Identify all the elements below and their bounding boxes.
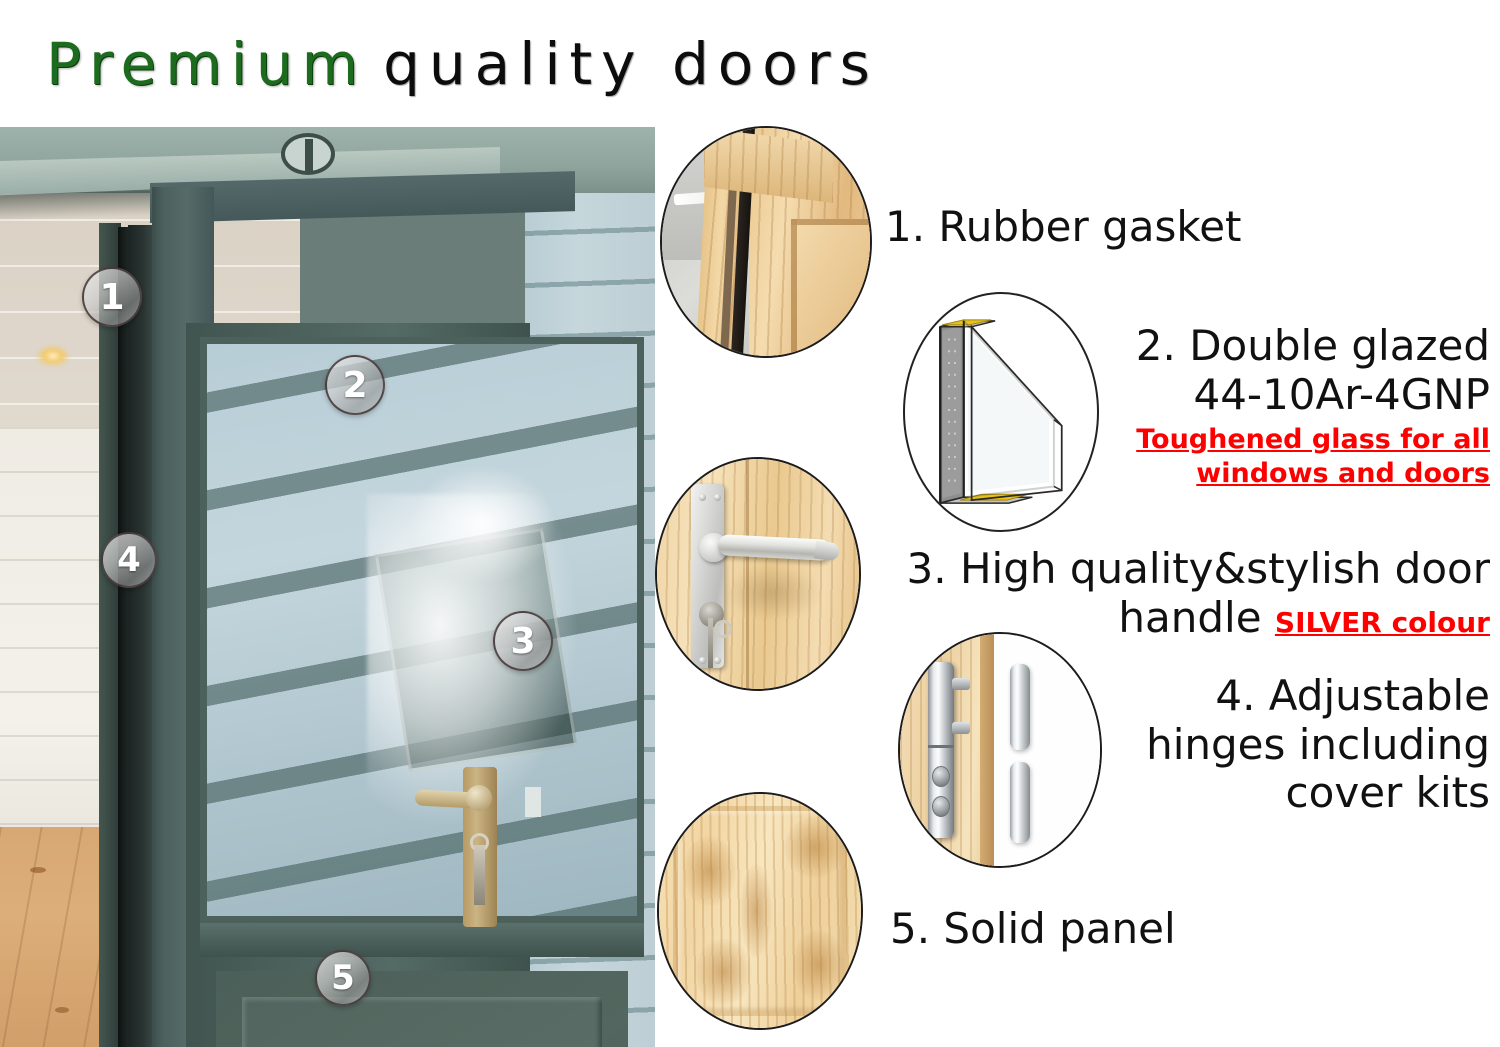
hinge-cover-cap-upper	[1010, 664, 1030, 750]
photo-badge-2-label: 2	[342, 365, 367, 406]
door-mid-rail	[200, 923, 644, 957]
feature-4-heading-line3: cover kits	[1286, 768, 1490, 817]
main-door-photo: 1 2 3 4 5	[0, 127, 655, 1047]
feature-4-heading-line1: 4. Adjustable	[1215, 671, 1490, 720]
photo-badge-5-label: 5	[331, 958, 355, 998]
feature-2-code: 44-10Ar-4GNP	[1110, 371, 1490, 420]
title-word-premium: Premium	[46, 30, 367, 98]
hinge-cover-cap-lower	[1010, 762, 1030, 843]
hinge-pin-upper	[952, 678, 970, 690]
feature-2-heading: 2. Double glazed	[1136, 321, 1490, 370]
door-solid-panel	[216, 971, 628, 1047]
photo-badge-1-label: 1	[99, 277, 124, 318]
door-glass	[200, 337, 644, 923]
door-panel-moulding	[242, 997, 602, 1047]
key-shaft	[708, 618, 713, 669]
hinge-pin-lower	[952, 722, 970, 734]
feature-image-adjustable-hinge	[898, 632, 1102, 868]
glass-reflection-sky	[407, 464, 557, 584]
hinge-adjust-screw-1	[932, 766, 950, 787]
feature-5-heading: 5. Solid panel	[890, 905, 1176, 954]
photo-badge-4[interactable]: 4	[101, 532, 157, 588]
photo-badge-4-label: 4	[117, 540, 141, 580]
feature-image-door-handle	[655, 457, 861, 691]
feature-3-note: SILVER colour	[1275, 606, 1490, 639]
feature-4-text-block: 4. Adjustable hinges including cover kit…	[1100, 672, 1490, 818]
title-word-quality-doors: quality doors	[383, 30, 879, 98]
feature-1-heading: 1. Rubber gasket	[885, 203, 1242, 252]
door-handle-rose	[466, 785, 492, 811]
keyring	[714, 620, 732, 638]
feature-3-heading-line2: handle	[1118, 593, 1261, 642]
feature-image-double-glazed-unit	[903, 292, 1099, 532]
photo-badge-3-label: 3	[510, 621, 535, 662]
feature-3-heading-line1: 3. High quality&stylish door	[907, 544, 1490, 593]
feature-image-solid-panel	[657, 792, 863, 1030]
feature-2-text-block: 2. Double glazed 44-10Ar-4GNP Toughened …	[1110, 322, 1490, 491]
page-title: Premiumquality doors	[46, 30, 879, 98]
door-leaf	[186, 323, 530, 1047]
double-glazed-diagram-svg	[905, 294, 1097, 530]
photo-badge-1[interactable]: 1	[82, 267, 142, 327]
ceiling-vent	[281, 133, 335, 175]
photo-badge-2[interactable]: 2	[325, 355, 385, 415]
ceiling-light	[36, 345, 70, 367]
panel-recess-border	[673, 806, 847, 1017]
feature-image-rubber-gasket	[660, 126, 872, 358]
photo-badge-3[interactable]: 3	[493, 611, 553, 671]
feature-3-text-block: 3. High quality&stylish door handle SILV…	[875, 545, 1490, 642]
feature-4-heading-line2: hinges including	[1146, 720, 1490, 769]
key	[474, 845, 485, 905]
photo-badge-5[interactable]: 5	[315, 950, 371, 1006]
infographic-page: Premiumquality doors	[0, 0, 1500, 1047]
feature-2-note: Toughened glass for all windows and door…	[1110, 423, 1490, 491]
strike-plate	[525, 787, 541, 817]
